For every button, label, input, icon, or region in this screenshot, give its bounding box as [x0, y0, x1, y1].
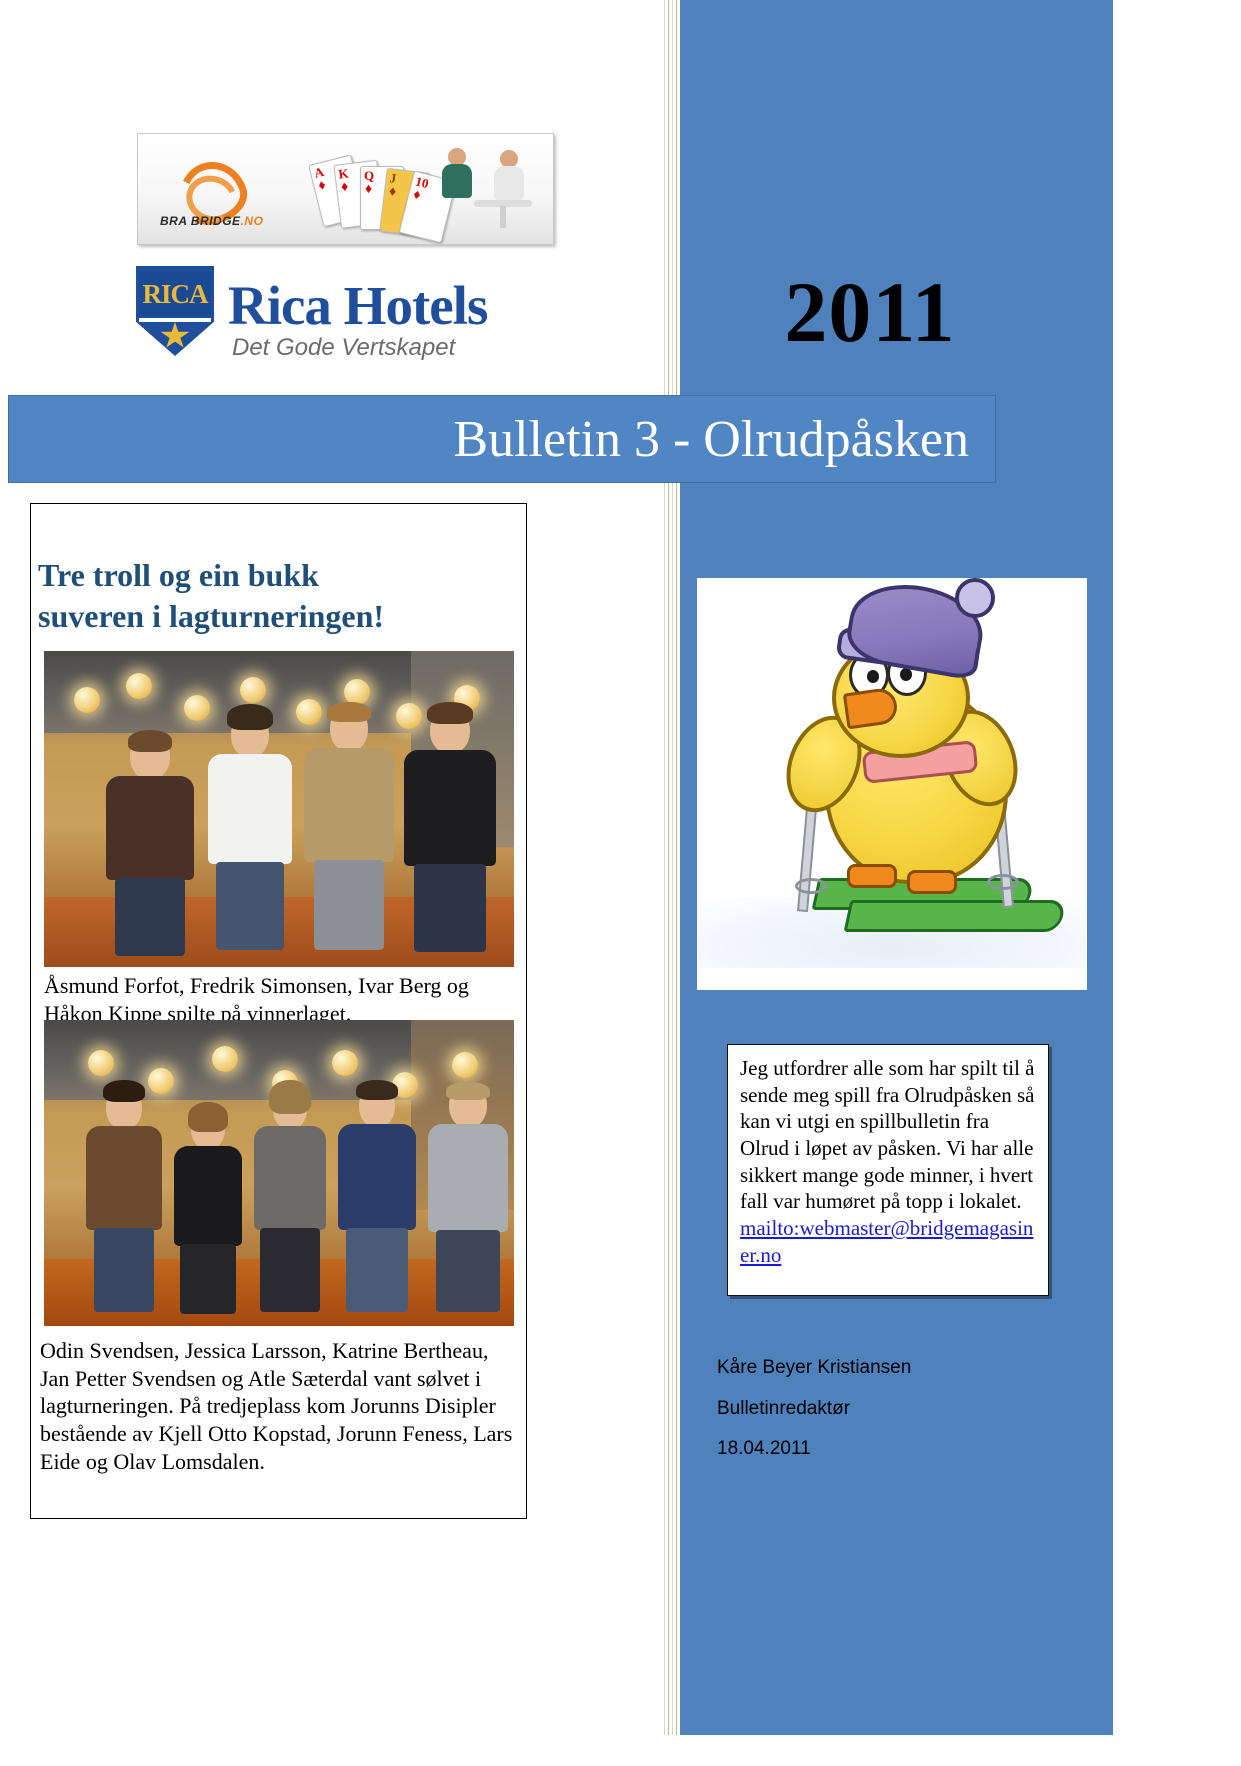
headline-line-1: Tre troll og ein bukk	[38, 555, 498, 596]
right-white-margin	[1113, 0, 1241, 1766]
bra-bridge-banner: BRA BRIDGE.NO A♦ K♦ Q♦ J♦ 10♦	[137, 133, 554, 245]
headline-line-2: suveren i lagturneringen!	[38, 596, 498, 637]
skiing-chick-icon	[697, 578, 1087, 990]
winning-team-photo	[44, 651, 514, 967]
bridge-players-photo	[438, 138, 550, 240]
rica-star-icon	[160, 322, 190, 350]
rica-hotels-name: Rica Hotels	[228, 274, 487, 337]
editor-name: Kåre Beyer Kristiansen	[717, 1357, 1057, 1379]
photo-caption-2: Odin Svendsen, Jessica Larsson, Katrine …	[40, 1337, 518, 1476]
page-rule-2	[668, 0, 669, 1766]
bra-bridge-name: BRA BRIDGE	[160, 214, 241, 228]
easter-chick-illustration-box	[697, 578, 1087, 990]
playing-cards-icon: A♦ K♦ Q♦ J♦ 10♦	[323, 140, 448, 240]
rica-shield-text: RICA	[142, 279, 207, 310]
card-suit: ♦	[340, 180, 349, 197]
editor-role: Bulletinredaktør	[717, 1398, 1057, 1420]
article-headline: Tre troll og ein bukk suveren i lagturne…	[38, 555, 498, 637]
card-suit: ♦	[317, 178, 328, 195]
rica-hotels-tagline: Det Gode Vertskapet	[232, 334, 455, 362]
year-heading: 2011	[700, 262, 1040, 362]
silver-team-photo	[44, 1020, 514, 1326]
editor-message-text: Jeg utfordrer alle som har spilt til å s…	[740, 1056, 1035, 1213]
page-bottom-margin	[0, 1735, 1241, 1766]
page-rule-1	[664, 0, 665, 1766]
webmaster-email-link[interactable]: mailto:webmaster@bridgemagasiner.no	[740, 1215, 1036, 1268]
card-suit: ♦	[365, 182, 372, 198]
bulletin-date: 18.04.2011	[717, 1438, 1057, 1460]
bulletin-title: Bulletin 3 - Olrudpåsken	[453, 410, 969, 469]
card-suit: ♦	[388, 184, 397, 201]
bra-bridge-suffix: .NO	[241, 214, 264, 228]
bra-bridge-logo-icon: BRA BRIDGE.NO	[160, 162, 270, 232]
card-suit: ♦	[411, 187, 422, 204]
editor-message-box: Jeg utfordrer alle som har spilt til å s…	[727, 1044, 1049, 1296]
rica-shield-icon: RICA	[136, 266, 214, 356]
bulletin-page: BRA BRIDGE.NO A♦ K♦ Q♦ J♦ 10♦	[0, 0, 1241, 1766]
page-rule-3	[672, 0, 673, 1766]
rica-hotels-logo: RICA Rica Hotels Det Gode Vertskapet	[136, 262, 556, 362]
page-rule-4	[676, 0, 677, 1766]
bulletin-title-banner: Bulletin 3 - Olrudpåsken	[8, 395, 996, 483]
